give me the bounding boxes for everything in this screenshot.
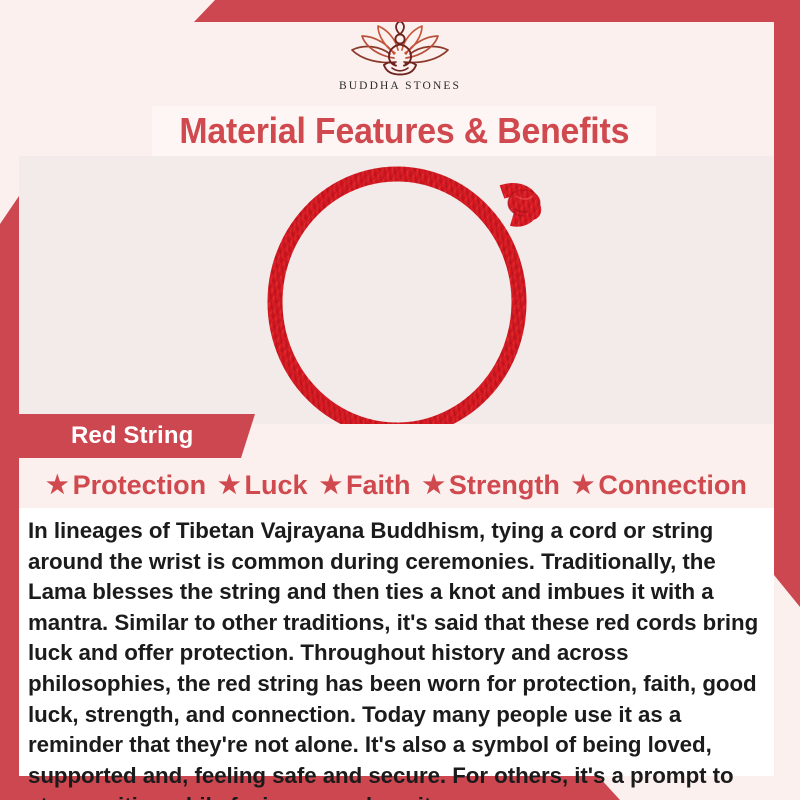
product-name-label: Red String [71,422,193,450]
star-icon: ★ [320,473,342,498]
benefit-label: Faith [346,470,411,501]
benefit-label: Protection [73,470,207,501]
brand-logo: BUDDHA STONES [0,22,800,104]
benefit-item: ★ Strength [422,470,559,501]
benefit-label: Strength [449,470,560,501]
benefit-label: Connection [598,470,747,501]
lotus-meditation-figure-icon [336,22,464,78]
star-icon: ★ [572,473,594,498]
star-icon: ★ [218,473,240,498]
brand-name: BUDDHA STONES [339,80,461,92]
star-icon: ★ [46,473,68,498]
star-icon: ★ [422,473,444,498]
description-paragraph: In lineages of Tibetan Vajrayana Buddhis… [28,516,768,800]
benefits-row: ★ Protection ★ Luck ★ Faith ★ Strength ★… [19,463,774,508]
benefit-item: ★ Connection [572,470,747,501]
red-string-bracelet-photo [19,156,774,424]
benefit-item: ★ Protection [46,470,206,501]
page-title-band: Material Features & Benefits [152,106,656,156]
benefit-label: Luck [245,470,308,501]
top-accent-bar [0,0,800,22]
description-card: In lineages of Tibetan Vajrayana Buddhis… [19,508,774,776]
benefit-item: ★ Faith [320,470,411,501]
page-title: Material Features & Benefits [179,110,629,152]
product-hero [19,156,774,424]
benefit-item: ★ Luck [218,470,307,501]
left-accent-bar [0,196,19,800]
product-name-banner: Red String [19,414,255,458]
infographic-page: BUDDHA STONES Material Features & Benefi… [0,0,800,800]
